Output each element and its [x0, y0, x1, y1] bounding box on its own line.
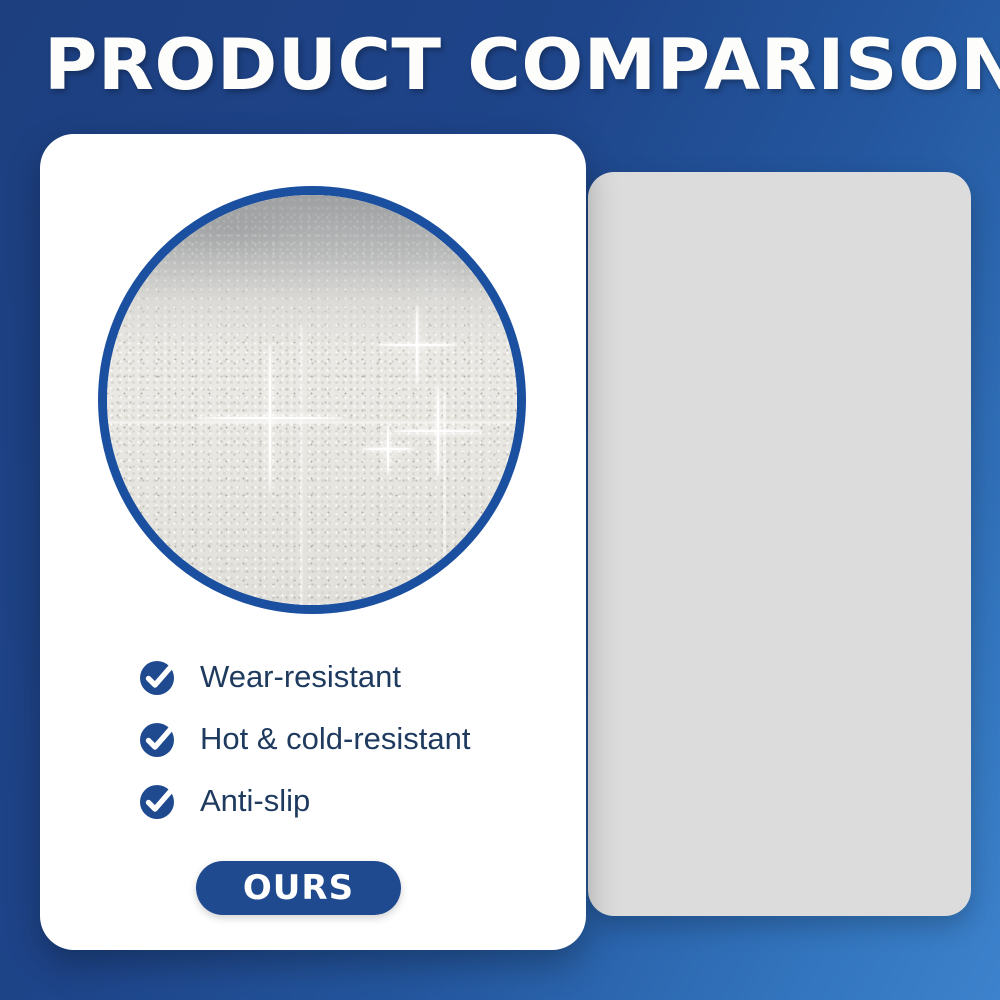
- ours-badge: OURS: [196, 861, 401, 915]
- check-circle-icon: [139, 782, 177, 820]
- list-item-label: Anti-slip: [200, 784, 310, 818]
- check-circle-icon: [139, 658, 177, 696]
- list-item: Hot & cold-resistant: [139, 717, 471, 761]
- ours-feature-list: Wear-resistant Hot & cold-resistant Anti…: [139, 655, 471, 841]
- check-circle-icon: [139, 720, 177, 758]
- others-card: Paint peeling Wrinkling: [588, 172, 971, 916]
- grout-line: [443, 392, 446, 605]
- grout-line: [300, 326, 303, 605]
- list-item-label: Wear-resistant: [200, 660, 401, 694]
- product-comparison-poster: PRODUCT COMPARISON Paint peeling: [0, 0, 1000, 1000]
- list-item-label: Hot & cold-resistant: [200, 722, 471, 756]
- grout-line: [107, 421, 517, 424]
- speckle-texture: [107, 195, 517, 605]
- page-title: PRODUCT COMPARISON: [44, 26, 1000, 104]
- list-item: Wear-resistant: [139, 655, 471, 699]
- list-item: Anti-slip: [139, 779, 471, 823]
- ours-product-image: [98, 186, 526, 614]
